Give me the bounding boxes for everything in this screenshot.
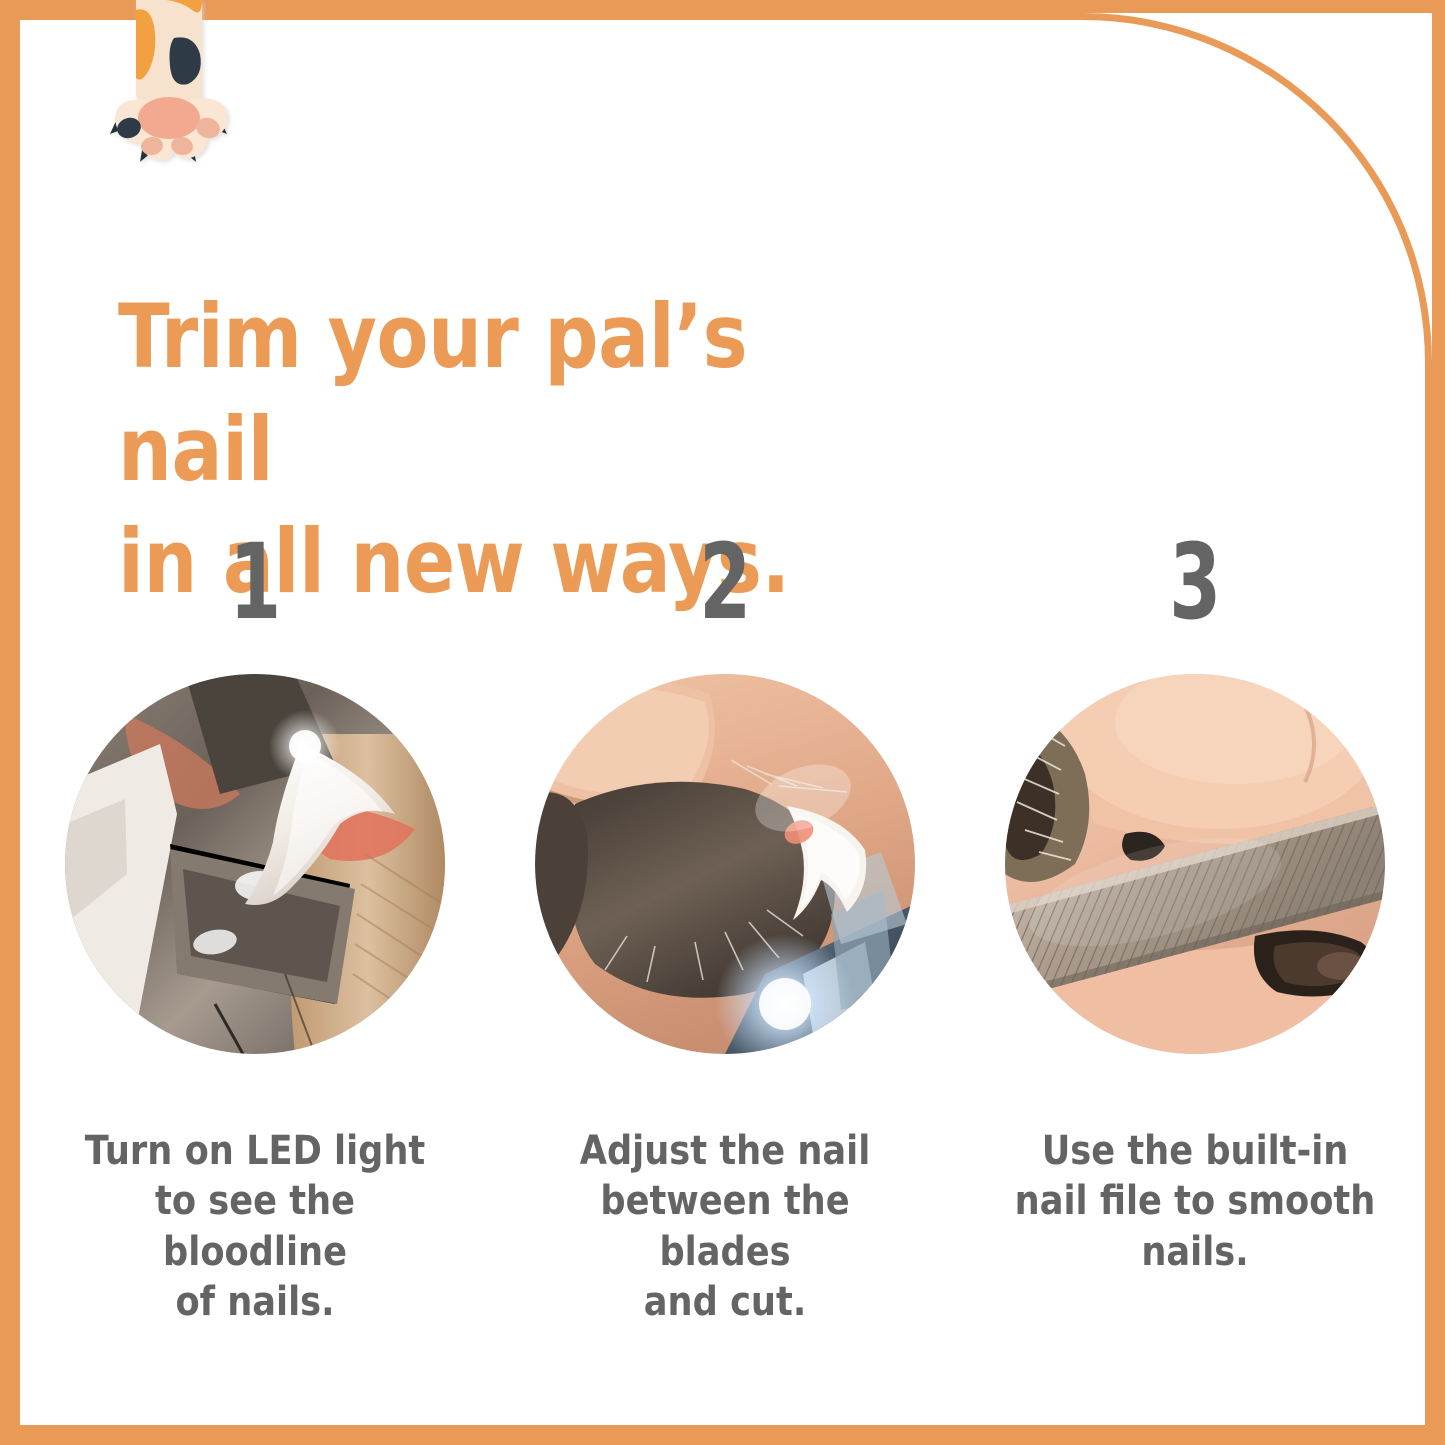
photo-nail-between-blades — [535, 674, 915, 1054]
photo-built-in-nail-file — [1005, 674, 1385, 1054]
step-1: 1 — [40, 530, 470, 1328]
frame-right-band — [1432, 0, 1445, 1445]
inner-outline-right — [1425, 360, 1432, 1432]
frame-bottom-band — [0, 1432, 1445, 1445]
inner-outline-left — [13, 13, 20, 1432]
steps-row: 1 — [40, 530, 1410, 1328]
step-caption-1: Turn on LED light to see the bloodline o… — [70, 1126, 440, 1328]
step-3: 3 — [980, 530, 1410, 1328]
cat-paw-icon — [96, 0, 246, 175]
product-infographic-poster: Trim your pal’s nail in all new ways. 1 — [0, 0, 1445, 1445]
frame-left-band — [0, 0, 13, 1445]
step-number-1: 1 — [229, 530, 281, 634]
photo-led-light-bloodline — [65, 674, 445, 1054]
step-caption-2: Adjust the nail between the blades and c… — [540, 1126, 910, 1328]
step-number-3: 3 — [1169, 530, 1221, 634]
step-caption-3: Use the built-in nail file to smooth nai… — [1010, 1126, 1380, 1277]
inner-outline-corner-arc — [1072, 13, 1432, 373]
inner-outline-bottom — [13, 1425, 1432, 1432]
step-2: 2 — [510, 530, 940, 1328]
step-number-2: 2 — [699, 530, 751, 634]
